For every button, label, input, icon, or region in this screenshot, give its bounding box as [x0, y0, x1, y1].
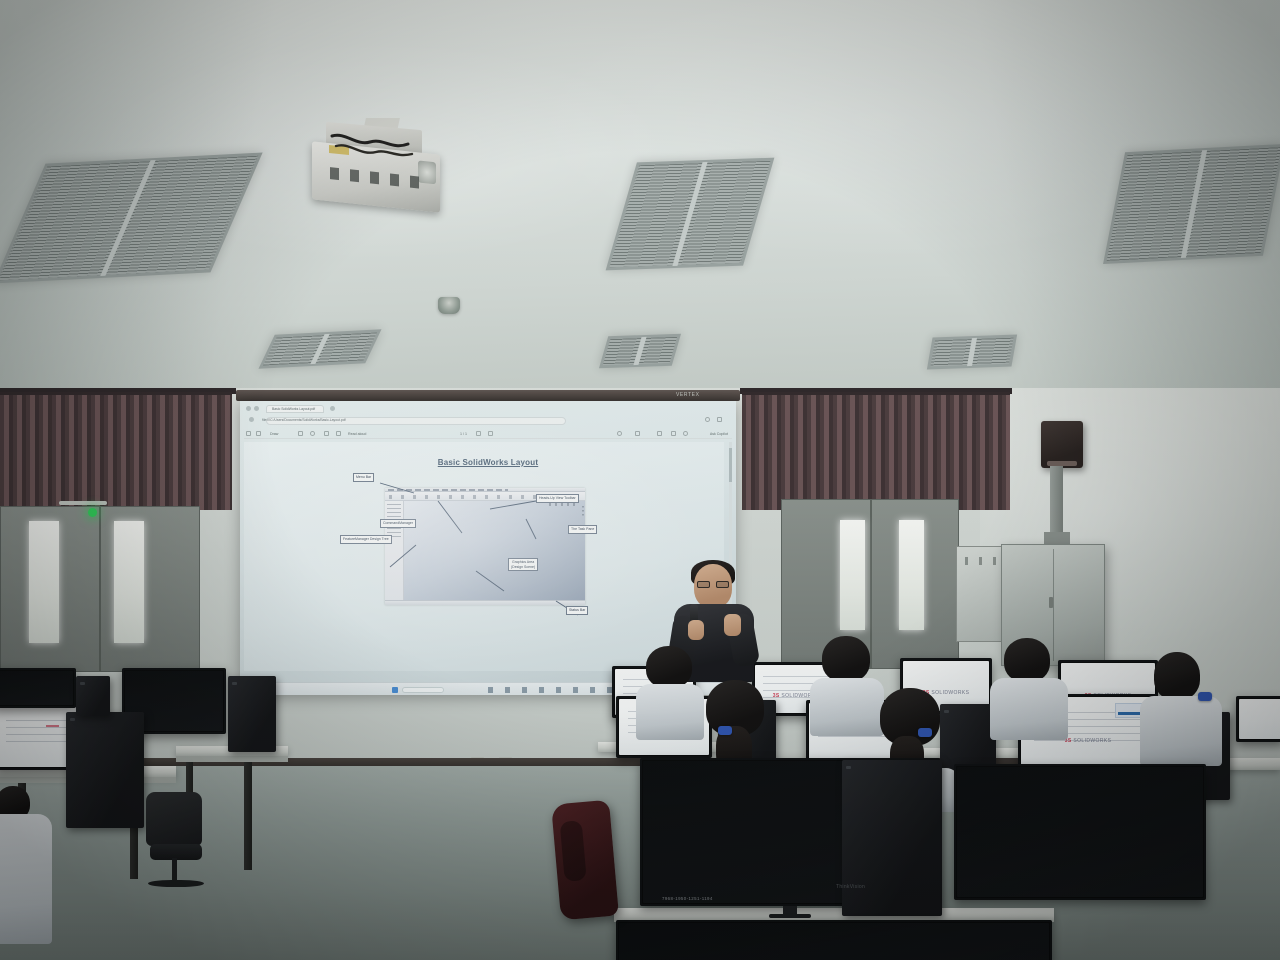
troffer-light-6 — [927, 335, 1017, 370]
browser-tab[interactable]: Basic SolidWorks Layout.pdf — [266, 405, 324, 413]
cabinet-lock-icon — [993, 557, 996, 565]
browser-address-text: file:///C:/Users/Documents/SolidWorks/Ba… — [262, 418, 346, 422]
solidworks-logo: 3S SOLIDWORKS — [1065, 738, 1112, 744]
pdf-text-icon[interactable] — [324, 431, 329, 436]
window-curtain-right — [742, 392, 1010, 510]
pdf-thumbnails-icon[interactable] — [246, 431, 251, 436]
door-glass-pane — [29, 521, 59, 643]
door-seam — [870, 500, 872, 668]
pdf-highlight-icon[interactable] — [298, 431, 303, 436]
student-head — [1154, 652, 1200, 700]
pdf-draw-label[interactable]: Draw — [270, 432, 278, 436]
callout-menu-bar: Menu Bar — [353, 473, 374, 482]
student-body — [1140, 696, 1222, 766]
backpack — [551, 800, 619, 921]
double-door-right[interactable] — [781, 499, 959, 669]
monitor-left-desk-3 — [0, 668, 76, 708]
callout-command-manager: CommandManager — [380, 519, 416, 528]
wall-speaker — [1041, 421, 1083, 468]
asset-tag-label: 7968-1950-1251-1194 — [662, 896, 713, 901]
student-head — [646, 646, 692, 688]
pdf-audio-icon[interactable] — [336, 431, 341, 436]
solidworks-ui-screenshot — [385, 488, 585, 605]
chair-backrest — [146, 792, 202, 846]
door-glass-pane — [114, 521, 144, 643]
callout-task-pane: The Task Pane — [568, 525, 597, 534]
taskbar-search-input[interactable] — [402, 687, 444, 693]
ask-copilot-label[interactable]: Ask Copilot — [710, 432, 728, 436]
monitor-panel — [0, 671, 73, 705]
speaker-mount-arm — [1050, 466, 1063, 536]
eyeglasses-icon — [697, 581, 729, 588]
hair-ribbon — [718, 726, 732, 735]
taskbar-app-icons[interactable] — [488, 687, 616, 693]
browser-profile-icon[interactable] — [705, 417, 710, 422]
glasses-lens-right — [716, 581, 729, 588]
pdf-page-indicator: 1 / 1 — [460, 432, 467, 436]
browser-reload-icon[interactable] — [249, 417, 254, 422]
student-body — [0, 814, 52, 944]
student-head — [822, 636, 870, 682]
start-button[interactable] — [392, 687, 398, 693]
pdf-document-title: Basic SolidWorks Layout — [240, 458, 736, 467]
pdf-zoom-out-icon[interactable] — [476, 431, 481, 436]
desk-leg — [244, 762, 252, 870]
hair-ribbon — [1198, 692, 1212, 701]
pdf-erase-icon[interactable] — [310, 431, 315, 436]
cabinet-lock-icon — [965, 557, 968, 565]
callout-graphics-area: Graphics Area (Design Scene) — [508, 558, 538, 571]
screen-brand-label: VERTEX — [676, 392, 700, 398]
solidworks-graphics-area — [404, 501, 585, 600]
solidworks-task-pane — [582, 506, 585, 518]
chair-base — [148, 880, 204, 887]
monitor-panel — [957, 767, 1203, 897]
pdf-save-icon[interactable] — [683, 431, 688, 436]
projector-cables — [326, 130, 426, 164]
browser-back-icon[interactable] — [246, 406, 251, 411]
pdf-fullscreen-icon[interactable] — [671, 431, 676, 436]
hair-ribbon — [918, 728, 932, 737]
cabinet-lock-icon — [979, 557, 982, 565]
instructor-hand-left — [688, 620, 704, 640]
monitor-panel — [1239, 699, 1280, 739]
monitor-front-right — [954, 764, 1206, 900]
monitor-row3-edge — [1236, 696, 1280, 742]
solidworks-heads-up-toolbar — [549, 503, 579, 506]
door-glass-pane — [899, 520, 924, 630]
metal-storage-cabinet-small[interactable] — [956, 546, 1004, 642]
pdf-outline-icon[interactable] — [256, 431, 261, 436]
pdf-zoom-in-icon[interactable] — [488, 431, 493, 436]
pc-tower-left-2 — [228, 676, 276, 752]
instructor-hand-right — [724, 614, 741, 636]
screen-roller-housing — [236, 390, 740, 401]
glasses-lens-left — [697, 581, 710, 588]
student-head — [1004, 638, 1050, 682]
troffer-light-4 — [258, 329, 381, 368]
door-seam — [99, 507, 101, 671]
browser-menu-icon[interactable] — [717, 417, 722, 422]
pdf-rotate-icon[interactable] — [635, 431, 640, 436]
cabinet-handle[interactable] — [1049, 597, 1053, 608]
solidworks-status-bar — [385, 600, 585, 605]
new-tab-icon[interactable] — [330, 406, 335, 411]
pdf-search-icon[interactable] — [617, 431, 622, 436]
browser-forward-icon[interactable] — [254, 406, 259, 411]
solidworks-logo-text: SOLIDWORKS — [1073, 738, 1111, 744]
troffer-light-3 — [1103, 144, 1280, 264]
callout-status-bar: Status Bar — [566, 606, 588, 615]
double-door-left[interactable] — [0, 506, 200, 672]
classroom-scene: VERTEX Basic SolidWorks Layout.pdf file:… — [0, 0, 1280, 960]
solidworks-logo-text: SOLIDWORKS — [931, 690, 969, 696]
solidworks-logo-mark: 3S — [773, 693, 780, 699]
student-body — [990, 678, 1068, 740]
ceiling-projector — [312, 118, 442, 208]
window-curtain-left — [0, 392, 232, 510]
pdf-viewer-toolbar: Draw Read aloud 1 / 1 Ask Copilot — [244, 429, 732, 439]
door-header-bar — [59, 501, 107, 505]
browser-tab-title: Basic SolidWorks Layout.pdf — [272, 407, 315, 411]
monitor-front-lowest — [616, 920, 1052, 960]
callout-heads-up-view-toolbar: Heads-Up View Toolbar — [536, 494, 579, 503]
browser-tab-strip: Basic SolidWorks Layout.pdf — [244, 404, 732, 414]
pdf-print-icon[interactable] — [657, 431, 662, 436]
exit-indicator-light — [88, 508, 97, 517]
monitor-base — [769, 914, 811, 918]
solidworks-accent-bar — [46, 725, 59, 727]
troffer-light-5 — [599, 334, 681, 368]
student-body — [636, 684, 704, 740]
monitor-panel — [619, 923, 1049, 960]
student-body — [810, 678, 884, 736]
callout-feature-manager-design-tree: FeatureManager Design Tree — [340, 535, 392, 544]
door-glass-pane — [840, 520, 865, 630]
pdf-read-aloud-label[interactable]: Read aloud — [348, 432, 366, 436]
pc-tower-left-1 — [66, 712, 144, 828]
solidworks-feature-tree — [385, 501, 404, 600]
smoke-detector-icon — [438, 297, 460, 314]
pc-tower-left-3 — [76, 676, 110, 716]
